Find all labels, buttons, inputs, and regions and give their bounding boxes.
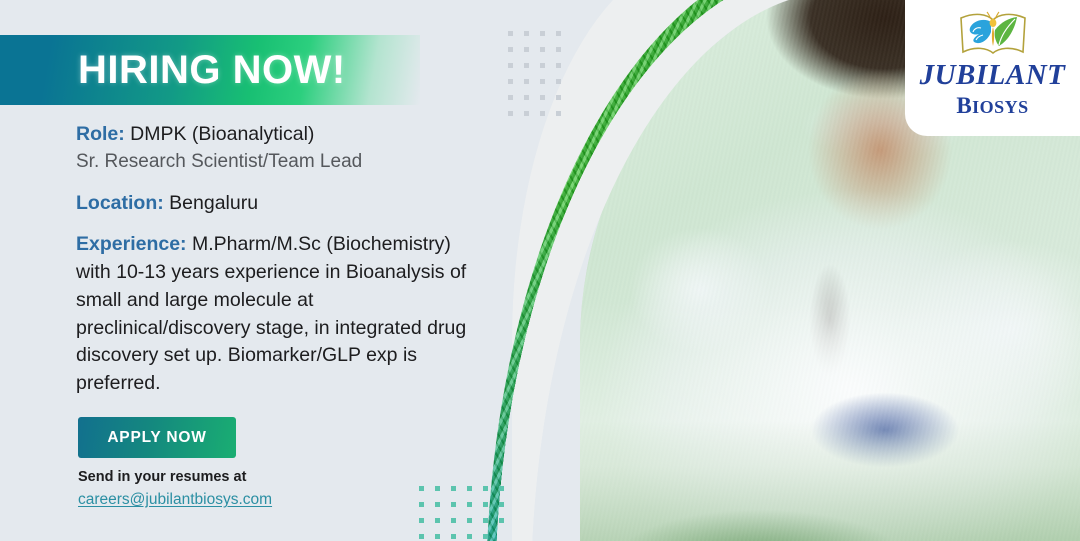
logo-division-initial: B — [956, 93, 972, 118]
dot — [483, 534, 488, 539]
hiring-banner: HIRING NOW! — [0, 35, 420, 105]
dot — [508, 47, 513, 52]
dot — [499, 502, 504, 507]
logo-division-name: BIOSYS — [956, 94, 1028, 117]
dot — [556, 79, 561, 84]
dot — [467, 502, 472, 507]
butterfly-leaf-book-icon — [957, 8, 1029, 58]
spacer — [76, 216, 496, 231]
dot — [499, 486, 504, 491]
dot — [435, 502, 440, 507]
dot — [419, 518, 424, 523]
dot — [508, 95, 513, 100]
dot — [556, 47, 561, 52]
dot — [419, 502, 424, 507]
dot — [467, 518, 472, 523]
dot — [540, 79, 545, 84]
resume-instruction: Send in your resumes at — [78, 469, 246, 485]
role-label: Role: — [76, 123, 125, 145]
dot — [483, 502, 488, 507]
dot — [451, 502, 456, 507]
logo-division-rest: IOSYS — [972, 97, 1029, 117]
dot — [540, 63, 545, 68]
dot — [435, 486, 440, 491]
dot — [451, 486, 456, 491]
dot — [524, 47, 529, 52]
dot — [556, 95, 561, 100]
dot — [435, 518, 440, 523]
dot — [540, 47, 545, 52]
dot — [556, 111, 561, 116]
apply-now-button[interactable]: APPLY NOW — [78, 417, 236, 458]
dot — [467, 534, 472, 539]
dot — [524, 79, 529, 84]
dot — [540, 31, 545, 36]
role-value: DMPK (Bioanalytical) — [125, 123, 315, 145]
dot — [524, 111, 529, 116]
dot — [499, 518, 504, 523]
hiring-headline: HIRING NOW! — [78, 48, 346, 93]
dot — [556, 63, 561, 68]
dot — [483, 486, 488, 491]
dot — [435, 534, 440, 539]
dot — [483, 518, 488, 523]
dot — [451, 534, 456, 539]
dot — [524, 31, 529, 36]
dot — [419, 486, 424, 491]
location-line: Location: Bengaluru — [76, 191, 496, 217]
dot — [524, 63, 529, 68]
experience-label: Experience: — [76, 233, 187, 255]
location-label: Location: — [76, 192, 164, 214]
experience-value: M.Pharm/M.Sc (Biochemistry) with 10-13 y… — [76, 233, 466, 393]
dot — [508, 79, 513, 84]
dot — [508, 31, 513, 36]
careers-email-link[interactable]: careers@jubilantbiosys.com — [78, 491, 272, 509]
dot — [524, 95, 529, 100]
hiring-advertisement: HIRING NOW! Role: DMPK (Bioanalytical) S… — [0, 0, 1080, 541]
location-value: Bengaluru — [164, 192, 258, 214]
spacer — [76, 176, 496, 191]
dot — [508, 111, 513, 116]
dot — [540, 111, 545, 116]
role-line: Role: DMPK (Bioanalytical) — [76, 122, 496, 148]
dot — [556, 31, 561, 36]
logo-company-name: JUBILANT — [920, 61, 1066, 90]
dot-grid-top — [508, 31, 561, 116]
experience-line: Experience: M.Pharm/M.Sc (Biochemistry) … — [76, 231, 486, 397]
job-details: Role: DMPK (Bioanalytical) Sr. Research … — [76, 122, 496, 398]
dot — [540, 95, 545, 100]
dot — [451, 518, 456, 523]
dot — [467, 486, 472, 491]
company-logo: JUBILANT BIOSYS — [905, 0, 1080, 136]
dot — [508, 63, 513, 68]
role-subtitle: Sr. Research Scientist/Team Lead — [76, 149, 496, 176]
dot — [419, 534, 424, 539]
dot-grid-bottom — [419, 486, 504, 539]
